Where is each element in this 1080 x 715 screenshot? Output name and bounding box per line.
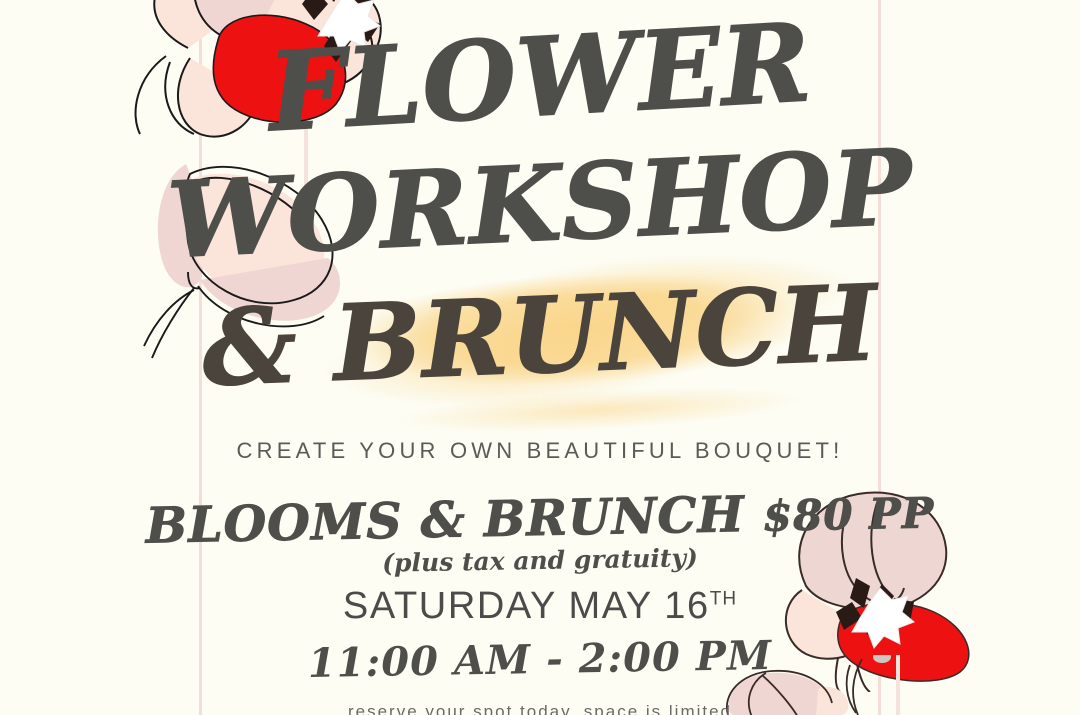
headline-line-1: FLOWER xyxy=(0,0,1080,162)
event-date: SATURDAY MAY 16TH xyxy=(0,585,1080,628)
cut-off-bottom-text: reserve your spot today, space is limite… xyxy=(0,702,1080,715)
price-amount: $80 PP xyxy=(762,488,934,540)
poppy-top-left-icon xyxy=(130,0,390,218)
tagline: CREATE YOUR OWN BEAUTIFUL BOUQUET! xyxy=(0,438,1080,464)
headline-line-2: WORKSHOP xyxy=(0,127,1080,281)
bud-left-icon xyxy=(138,148,358,363)
headline-line-3: & BRUNCH xyxy=(0,263,1080,408)
yellow-brush-stroke xyxy=(296,229,904,441)
flyer-canvas: FLOWER WORKSHOP & BRUNCH CREATE YOUR OWN… xyxy=(0,0,1080,715)
event-date-text: SATURDAY MAY 16 xyxy=(343,585,710,627)
event-date-ordinal: TH xyxy=(710,588,737,609)
event-time: 11:00 AM - 2:00 PM xyxy=(0,627,1080,693)
